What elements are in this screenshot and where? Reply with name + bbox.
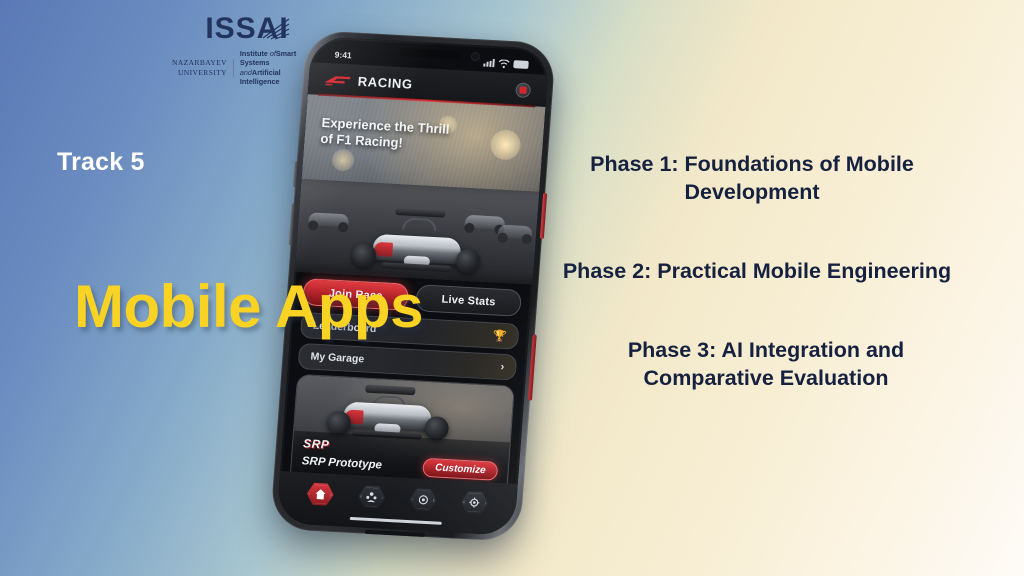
- customize-button[interactable]: Customize: [422, 458, 498, 481]
- inst-l1a: Institute: [240, 49, 268, 58]
- f1-logo-icon: [324, 72, 351, 86]
- issai-logo: ISSAI NAZARBAYEV UNIVERSITY Institute of…: [172, 14, 322, 86]
- volume-up-button[interactable]: [289, 203, 296, 245]
- hero-car-background: [495, 220, 535, 244]
- nav-home-icon[interactable]: [306, 482, 335, 507]
- slide-canvas: ISSAI NAZARBAYEV UNIVERSITY Institute of…: [0, 0, 1024, 576]
- nav-teams-icon[interactable]: [357, 484, 386, 509]
- car-name: SRP Prototype: [301, 455, 382, 471]
- track-label: Track 5: [57, 148, 145, 177]
- power-button[interactable]: [528, 335, 537, 401]
- volume-button[interactable]: [540, 193, 547, 239]
- wifi-icon: [498, 59, 510, 69]
- trophy-icon: 🏆: [492, 329, 507, 343]
- app-title: RACING: [357, 73, 413, 91]
- phase-1-label: Phase 1: Foundations of Mobile Developme…: [566, 150, 938, 207]
- inst-l2a: and: [240, 68, 252, 77]
- nav-settings-icon[interactable]: [409, 487, 438, 512]
- bottom-speaker-icon: [365, 530, 425, 537]
- phase-2-label: Phase 2: Practical Mobile Engineering: [534, 257, 980, 285]
- logo-subtitle-row: NAZARBAYEV UNIVERSITY Institute ofSmart …: [172, 49, 322, 86]
- mute-switch[interactable]: [293, 161, 299, 187]
- profile-badge-icon[interactable]: [515, 82, 531, 98]
- status-icons: [483, 58, 529, 69]
- signal-bars-icon: [483, 59, 495, 68]
- logo-university: NAZARBAYEV UNIVERSITY: [172, 58, 227, 77]
- my-garage-label: My Garage: [310, 351, 365, 366]
- live-stats-button[interactable]: Live Stats: [415, 284, 522, 317]
- chevron-right-icon: ›: [500, 361, 505, 373]
- logo-university-line1: NAZARBAYEV: [172, 58, 227, 67]
- logo-university-line2: UNIVERSITY: [172, 68, 227, 77]
- nav-gear-icon[interactable]: [460, 490, 489, 515]
- logo-divider: [233, 59, 234, 77]
- battery-icon: [513, 60, 529, 69]
- hero-car-foreground: [347, 205, 488, 276]
- issai-wordmark: ISSAI: [205, 14, 288, 44]
- page-title: Mobile Apps: [74, 272, 423, 341]
- phase-3-label: Phase 3: AI Integration and Comparative …: [598, 336, 934, 393]
- hero-car-background: [306, 208, 352, 232]
- status-time: 9:41: [334, 49, 352, 60]
- issai-swoosh-icon: [261, 16, 291, 42]
- hero-banner: Experience the Thrill of F1 Racing!: [295, 94, 546, 284]
